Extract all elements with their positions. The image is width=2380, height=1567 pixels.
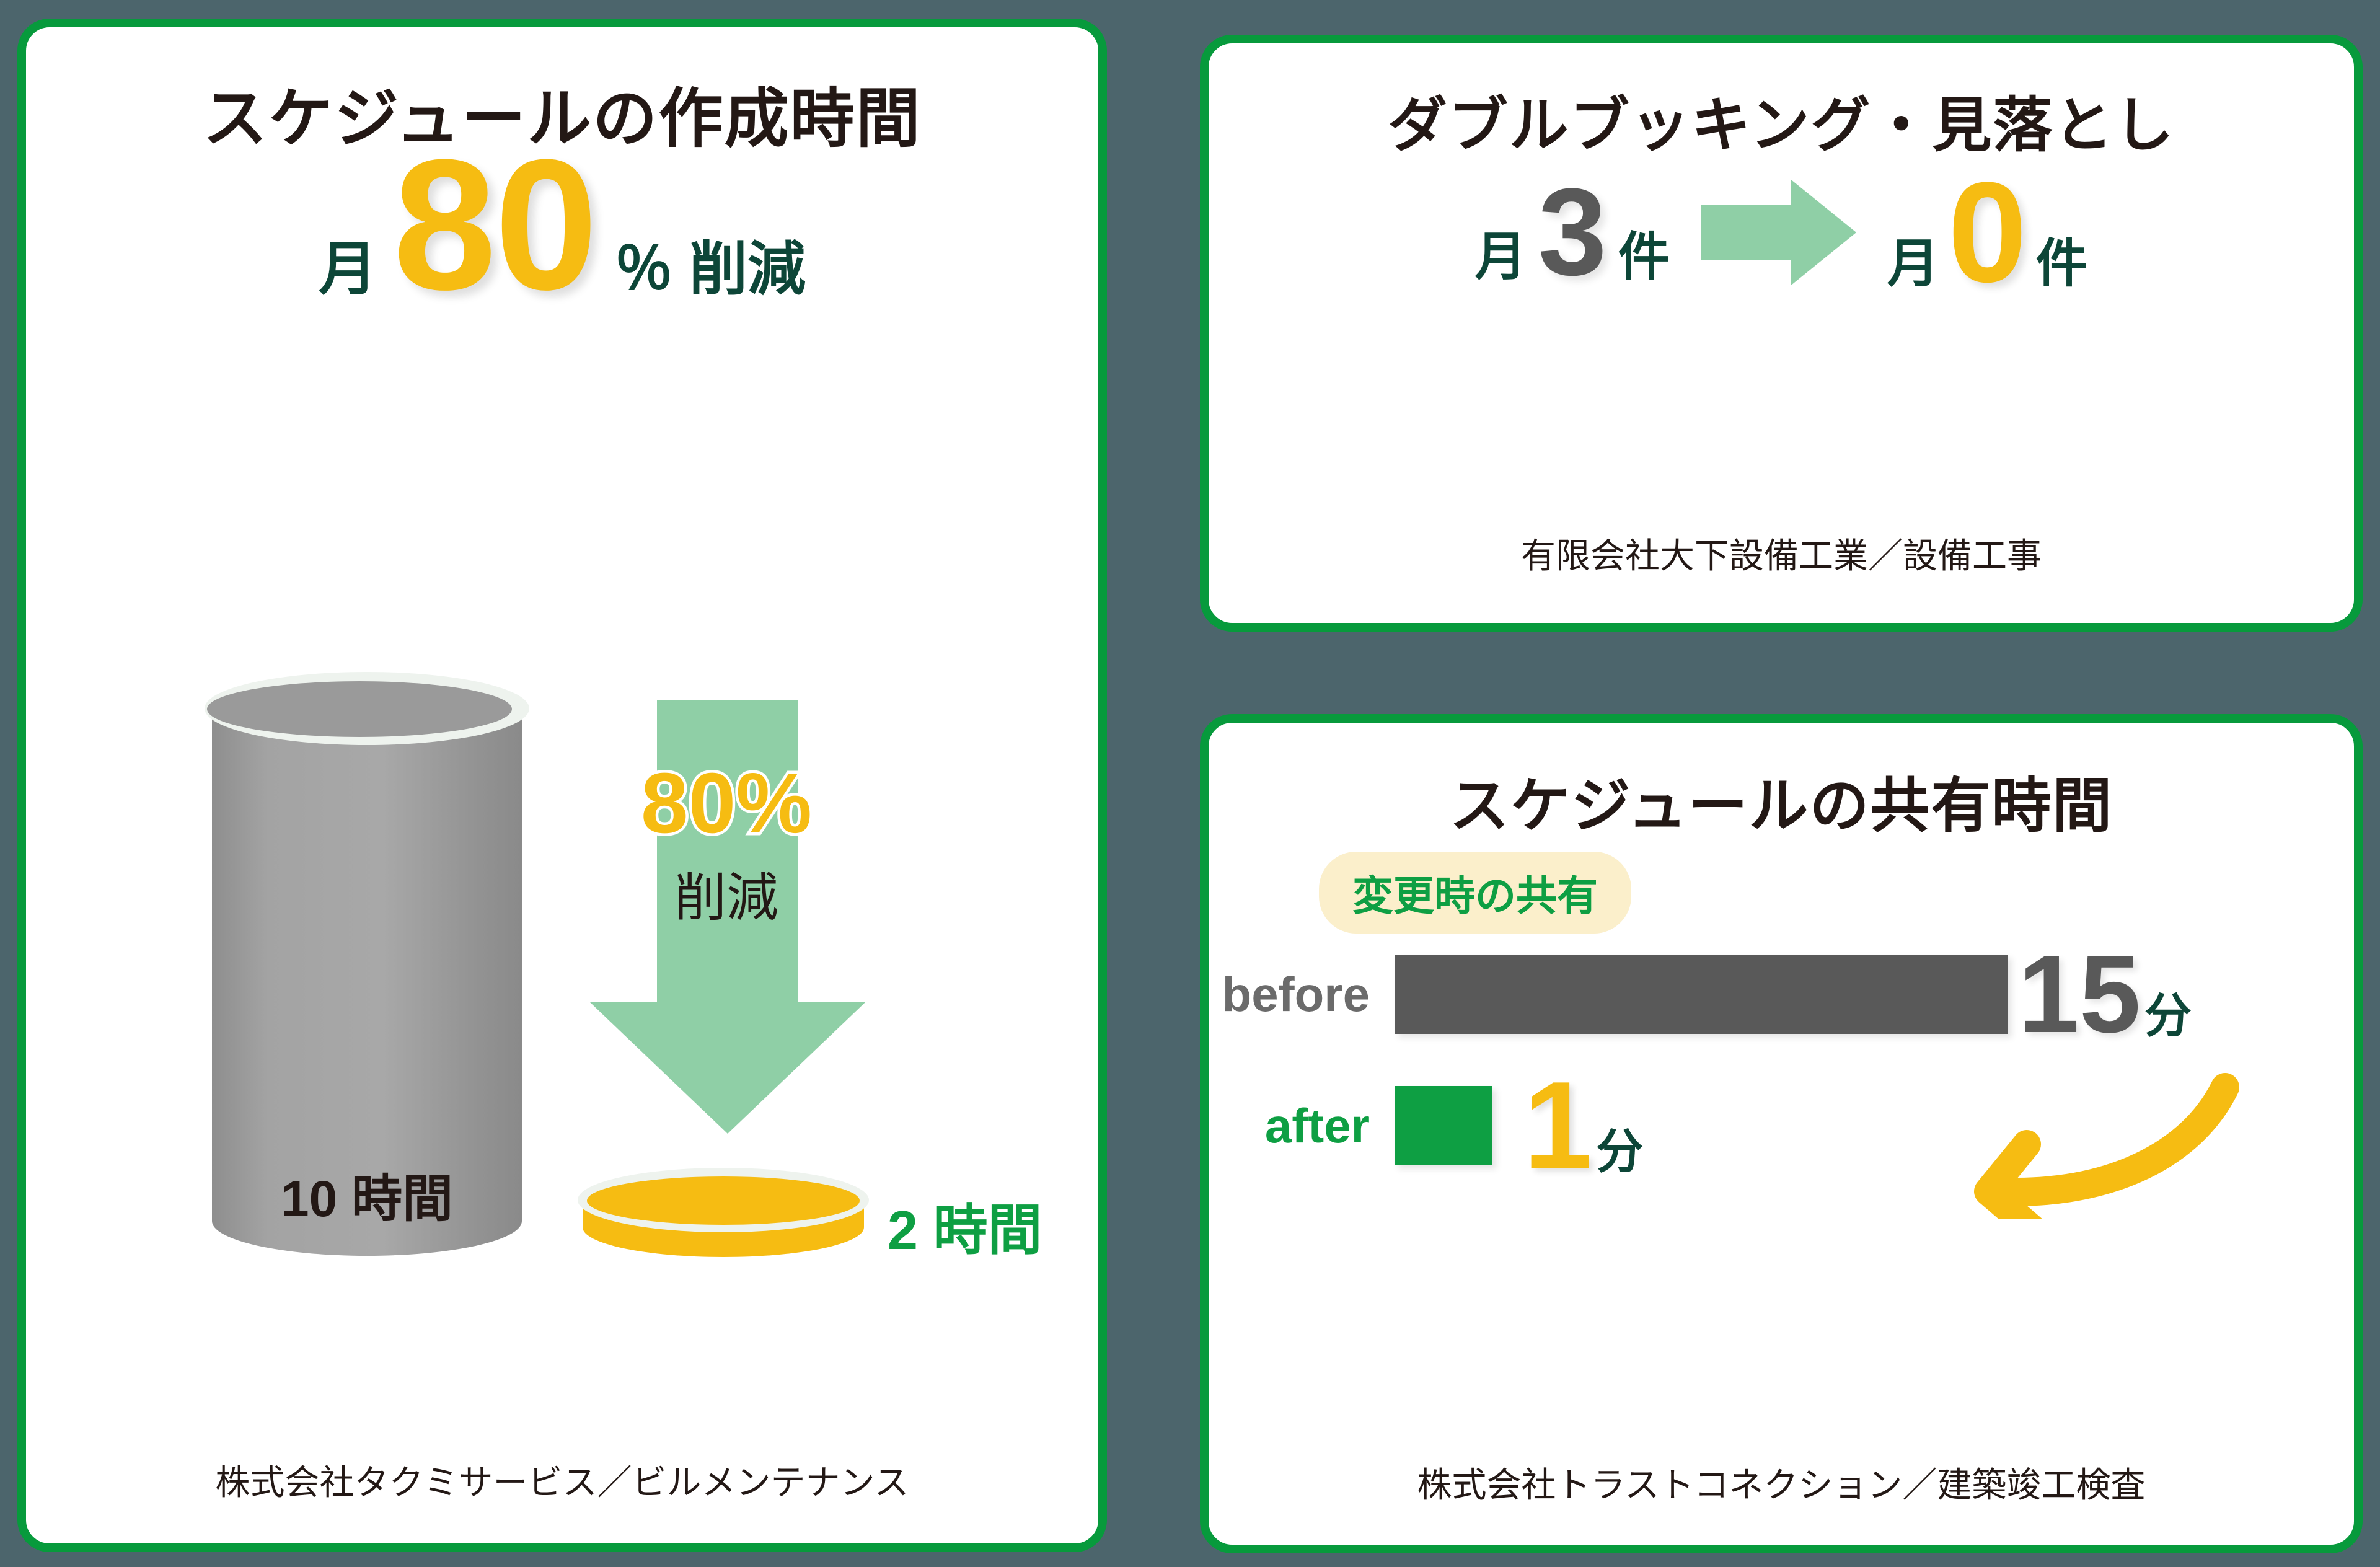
arrow-caption-label: 削減 [590, 856, 863, 931]
card-title-schedule-sharing: スケジュールの共有時間 [1209, 757, 2354, 844]
card-footer-double-booking: 有限会社大下設備工業／設備工事 [1209, 528, 2354, 578]
before-unit-suffix: 件 [1618, 215, 1670, 290]
card-schedule-creation: スケジュールの作成時間 月 80 ％ 削減 10 時間 80% 削減 [17, 19, 1107, 1552]
bar-value-unit-after: 分 [1596, 1113, 1643, 1181]
bar-value-number-after: 1 [1523, 1064, 1592, 1188]
headline-unit-suffix: ％ 削減 [615, 222, 806, 306]
before-unit-prefix: 月 [1474, 215, 1527, 290]
bar-value-after: 1 分 [1502, 1064, 1643, 1188]
before-value-label: 10 時間 [212, 1157, 522, 1231]
disc-rim [578, 1168, 869, 1232]
card-footer-schedule-sharing: 株式会社トラストコネクション／建築竣工検査 [1209, 1457, 2354, 1507]
after-value: 0 [1948, 161, 2027, 304]
after-value-label: 2 時間 [888, 1186, 1042, 1265]
after-unit-suffix: 件 [2036, 222, 2088, 297]
headline-value: 80 [393, 131, 596, 317]
bar-label-after: after [1209, 1098, 1395, 1154]
headline-unit-prefix: 月 [319, 222, 377, 306]
double-booking-stats: 月 3 件 月 0 件 [1209, 155, 2354, 310]
before-cylinder-graphic: 10 時間 [212, 672, 522, 1273]
infographic-root: スケジュールの作成時間 月 80 ％ 削減 10 時間 80% 削減 [0, 0, 2380, 1567]
arrow-percent-label: 80% [590, 754, 863, 853]
bar-value-before: 15 分 [2018, 939, 2192, 1049]
bar-row-before: before 15 分 [1209, 945, 2354, 1044]
status-badge: 変更時の共有 [1319, 852, 1631, 934]
cylinder-rim [205, 672, 529, 745]
arrow-head [590, 1002, 865, 1134]
disc-rim-inner [587, 1176, 860, 1225]
bar-value-unit-before: 分 [2144, 978, 2192, 1046]
arrow-shaft [657, 700, 798, 1010]
curved-left-arrow-icon [1952, 1070, 2244, 1219]
before-value: 3 [1538, 170, 1606, 294]
after-disc-graphic [578, 1168, 869, 1273]
bar-before [1395, 955, 2008, 1034]
bar-label-before: before [1209, 966, 1395, 1023]
headline-stat-reduction: 月 80 ％ 削減 [26, 131, 1098, 317]
card-footer-schedule-creation: 株式会社タクミサービス／ビルメンテナンス [26, 1455, 1098, 1505]
card-double-booking: ダブルブッキング・見落とし 月 3 件 月 0 件 有限会社大下設備工業／設備工… [1200, 35, 2363, 632]
double-booking-before: 月 3 件 [1474, 170, 1670, 294]
cylinder-rim-inner [207, 681, 512, 737]
card-title-double-booking: ダブルブッキング・見落とし [1209, 77, 2354, 163]
after-unit-prefix: 月 [1887, 222, 1939, 297]
card-schedule-sharing: スケジュールの共有時間 変更時の共有 before 15 分 after 1 分… [1200, 714, 2363, 1553]
double-booking-after: 月 0 件 [1887, 161, 2088, 304]
right-arrow-icon [1701, 180, 1856, 285]
bar-value-number-before: 15 [2018, 939, 2141, 1049]
bar-after [1395, 1086, 1492, 1165]
down-arrow-icon: 80% 削減 [590, 700, 863, 1134]
